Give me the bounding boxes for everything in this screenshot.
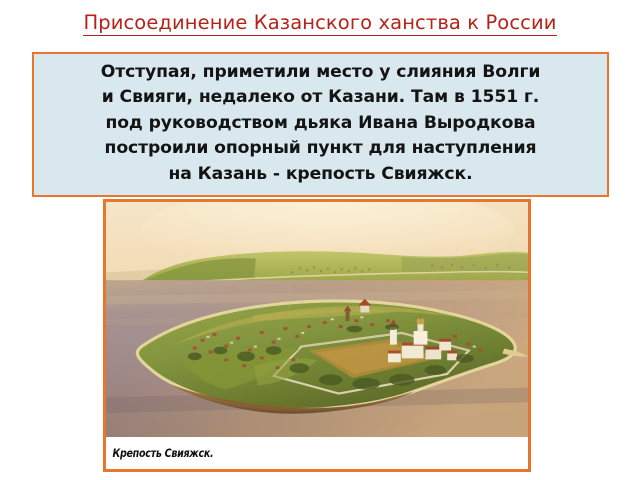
- page-title-text: Присоединение Казанского ханства к Росси…: [83, 11, 556, 36]
- painting-artwork: [106, 202, 528, 437]
- picture-frame: Крепость Свияжск.: [103, 199, 531, 472]
- page-title: Присоединение Казанского ханства к Росси…: [0, 11, 640, 34]
- callout-line: Отступая, приметили место у слияния Волг…: [101, 60, 541, 86]
- text-callout-box: Отступая, приметили место у слияния Волг…: [32, 52, 609, 197]
- picture-caption-strip: Крепость Свияжск.: [106, 438, 528, 470]
- picture-caption: Крепость Свияжск.: [106, 446, 213, 460]
- callout-line: и Свияги, недалеко от Казани. Там в 1551…: [102, 85, 540, 111]
- callout-line: под руководством дьяка Ивана Выродкова: [105, 111, 535, 137]
- callout-line: на Казань - крепость Свияжск.: [169, 162, 473, 188]
- callout-line: построили опорный пункт для наступления: [105, 136, 537, 162]
- painting-sviyazhsk-fortress: [106, 202, 528, 437]
